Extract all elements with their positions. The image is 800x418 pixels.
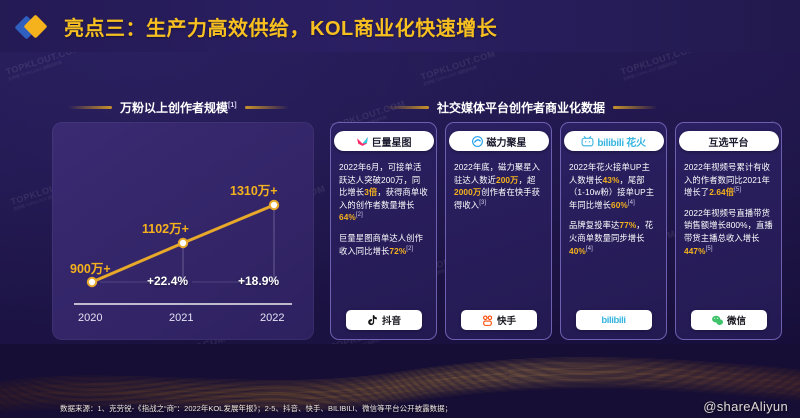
chart-point — [179, 239, 187, 247]
card-header-label: 磁力聚星 — [487, 134, 527, 149]
card-body: 2022年花火接单UP主人数增长43%，尾部（1-10w粉）接单UP主年同比增长… — [569, 161, 658, 295]
card-header-pill: 磁力聚星 — [449, 131, 549, 151]
body-text: 2022年视频号直播带货销售额增长800%，直播带货主播总收入增长 — [684, 208, 773, 243]
highlight-stat: 2.64倍 — [709, 187, 734, 197]
platform-badge[interactable]: bilibili — [576, 310, 652, 330]
body-text: 品牌复投率达 — [569, 220, 619, 230]
footnote-ref: [3] — [479, 200, 486, 206]
card-paragraph: 巨量星图商单达人创作收入同比增长72%[2] — [339, 232, 428, 257]
divider-right — [245, 106, 289, 109]
highlight-stat: 40% — [569, 246, 586, 256]
highlight-stat: 2000万 — [454, 187, 481, 197]
card-paragraph: 2022年6月，可接单活跃达人突破200万，同比增长3倍，获得商单收入的创作者数… — [339, 161, 428, 224]
card-header-label: 互选平台 — [709, 134, 749, 149]
page-title: 亮点三：生产力高效供给，KOL商业化快速增长 — [64, 12, 497, 41]
section-label-left: 万粉以上创作者规模[1] — [68, 99, 289, 116]
card-paragraph: 品牌复投率达77%，花火商单数量同步增长40%[4] — [569, 219, 658, 257]
footnote-ref: [2] — [406, 246, 413, 252]
platform-badge-label: 抖音 — [382, 313, 401, 327]
platform-badge[interactable]: 微信 — [691, 310, 767, 330]
footer-bar: 数据来源：1、克劳锐-《指战之“商”：2022年KOL发展年报》；2-5、抖音、… — [0, 400, 800, 416]
section-left-title: 万粉以上创作者规模[1] — [120, 99, 237, 116]
highlight-stat: 43% — [603, 175, 620, 185]
diamond-icon — [18, 14, 54, 40]
chart-x-tick: 2022 — [260, 312, 284, 324]
card-header-pill: 互选平台 — [679, 131, 779, 151]
card-paragraph: 2022年花火接单UP主人数增长43%，尾部（1-10w粉）接单UP主年同比增长… — [569, 161, 658, 211]
highlight-stat: 60% — [611, 200, 628, 210]
chart-value-label: 900万+ — [70, 258, 111, 277]
platform-cards: 巨量星图2022年6月，可接单活跃达人突破200万，同比增长3倍，获得商单收入的… — [330, 122, 782, 340]
cili-logo-icon — [471, 135, 484, 148]
highlight-stat: 64% — [339, 212, 356, 222]
section-label-right: 社交媒体平台创作者商业化数据 — [385, 99, 657, 116]
platform-card-xingtu[interactable]: 巨量星图2022年6月，可接单活跃达人突破200万，同比增长3倍，获得商单收入的… — [330, 122, 437, 340]
platform-badge[interactable]: 抖音 — [346, 310, 422, 330]
footnote-ref: [4] — [586, 246, 593, 252]
highlight-stat: 77% — [619, 220, 636, 230]
divider-left — [385, 106, 429, 109]
highlight-stat: 3倍 — [364, 187, 377, 197]
divider-right — [613, 106, 657, 109]
slide-root: TOPKLOUT.COM克劳锐 TOPKLOUT 指数研究院TOPKLOUT.C… — [0, 0, 800, 418]
platform-card-huahuo[interactable]: bilibili 花火2022年花火接单UP主人数增长43%，尾部（1-10w粉… — [560, 122, 667, 340]
card-body: 2022年底，磁力聚星入驻达人数近200万，超2000万创作者在快手获得收入[3… — [454, 161, 543, 295]
bilibili-logo-icon — [581, 135, 594, 148]
card-paragraph: 2022年视频号累计有收入的作者数同比2021年增长了2.64倍[5] — [684, 161, 773, 199]
creator-scale-chart: 900万+1102万+1310万++22.4%+18.9%20202021202… — [52, 122, 314, 340]
chart-value-label: 1102万+ — [142, 218, 189, 237]
card-header-pill: bilibili 花火 — [564, 131, 664, 151]
card-paragraph: 2022年视频号直播带货销售额增长800%，直播带货主播总收入增长447%[5] — [684, 207, 773, 257]
body-text: 巨量星图商单达人创作收入同比增长 — [339, 233, 423, 256]
source-note: 数据来源：1、克劳锐-《指战之“商”：2022年KOL发展年报》；2-5、抖音、… — [0, 403, 452, 414]
footnote-ref: [5] — [706, 246, 713, 252]
platform-badge[interactable]: 快手 — [461, 310, 537, 330]
footnote-ref: [5] — [734, 187, 741, 193]
section-right-title: 社交媒体平台创作者商业化数据 — [437, 99, 605, 116]
watermark-aliyun: @shareAliyun — [703, 399, 788, 414]
chart-x-tick: 2021 — [169, 312, 193, 324]
card-body: 2022年6月，可接单活跃达人突破200万，同比增长3倍，获得商单收入的创作者数… — [339, 161, 428, 295]
highlight-stat: 72% — [389, 246, 406, 256]
highlight-stat: 447% — [684, 246, 706, 256]
footnote-ref: [4] — [628, 200, 635, 206]
platform-badge-label: 微信 — [727, 313, 746, 327]
chart-point — [270, 201, 278, 209]
platform-card-huxuan[interactable]: 互选平台2022年视频号累计有收入的作者数同比2021年增长了2.64倍[5]2… — [675, 122, 782, 340]
card-header-pill: 巨量星图 — [334, 131, 434, 151]
platform-badge-label: 快手 — [497, 313, 516, 327]
card-header-label: bilibili 花火 — [597, 134, 645, 149]
slide-header: 亮点三：生产力高效供给，KOL商业化快速增长 — [0, 0, 800, 52]
watermark-tile: TOPKLOUT.COM克劳锐 TOPKLOUT 指数研究院 — [419, 48, 498, 87]
chart-growth-label: +18.9% — [238, 274, 279, 288]
platform-card-cilijuxing[interactable]: 磁力聚星2022年底，磁力聚星入驻达人数近200万，超2000万创作者在快手获得… — [445, 122, 552, 340]
chart-point — [88, 278, 96, 286]
card-header-label: 巨量星图 — [372, 134, 412, 149]
divider-left — [68, 106, 112, 109]
card-body: 2022年视频号累计有收入的作者数同比2021年增长了2.64倍[5]2022年… — [684, 161, 773, 295]
chart-x-tick: 2020 — [78, 312, 102, 324]
wechat-logo-icon — [711, 314, 724, 327]
footnote-ref: [2] — [356, 213, 363, 219]
douyin-logo-icon — [366, 314, 379, 327]
platform-badge-label: bilibili — [601, 315, 625, 326]
xingtu-logo-icon — [356, 135, 369, 148]
section-left-sup: [1] — [228, 102, 237, 109]
chart-value-label: 1310万+ — [230, 180, 278, 199]
body-text: ，超 — [519, 175, 536, 185]
kuaishou-logo-icon — [481, 314, 494, 327]
card-paragraph: 2022年底，磁力聚星入驻达人数近200万，超2000万创作者在快手获得收入[3… — [454, 161, 543, 211]
chart-growth-label: +22.4% — [147, 274, 188, 288]
highlight-stat: 200万 — [496, 175, 519, 185]
